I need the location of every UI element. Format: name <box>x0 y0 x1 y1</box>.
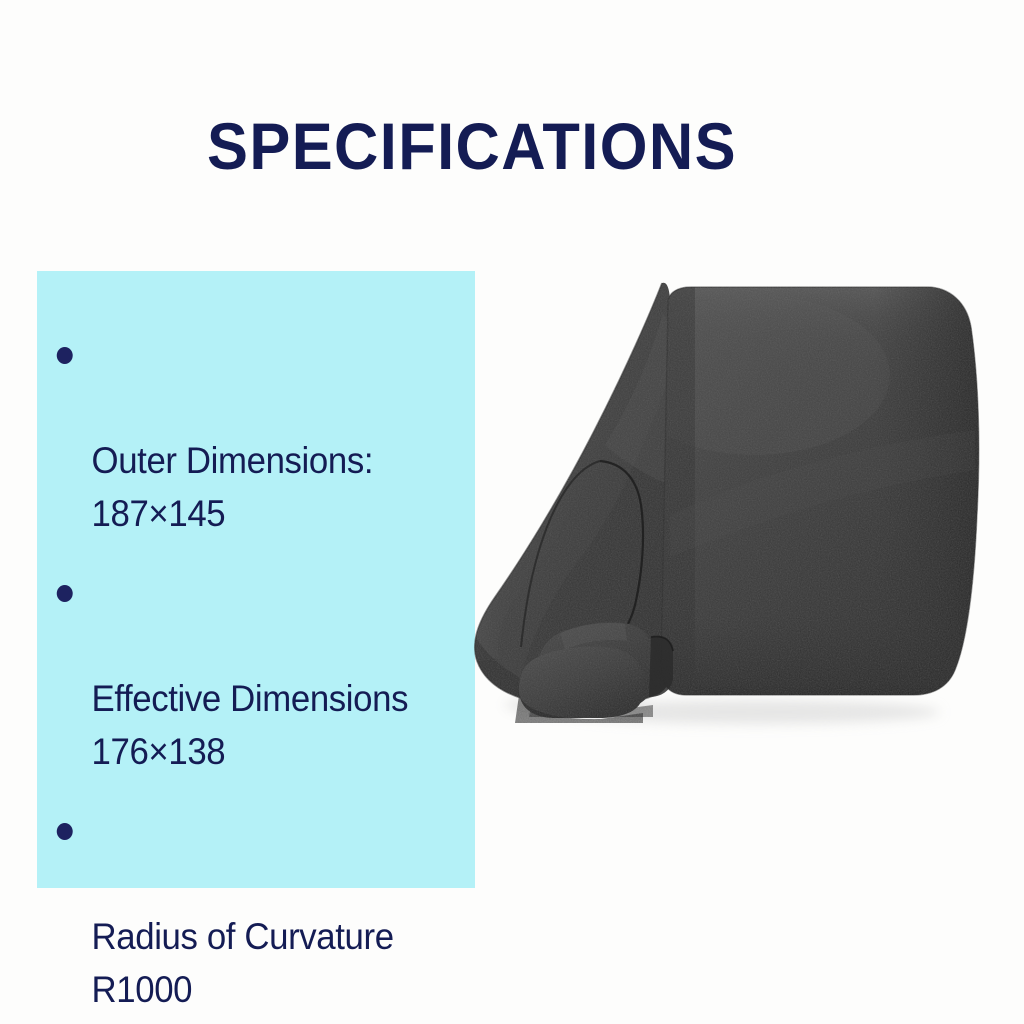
list-item: Radius of Curvature R1000 <box>37 806 479 1016</box>
product-image-side-view-mirror <box>455 265 1015 745</box>
spec-item-label: Outer Dimensions: 187×145 <box>92 440 374 534</box>
page-title: SPECIFICATIONS <box>33 108 911 184</box>
spec-item-label: Radius of Curvature R1000 <box>92 916 394 1010</box>
bullet-icon <box>57 347 73 364</box>
specifications-list: Outer Dimensions: 187×145 Effective Dime… <box>37 330 507 1024</box>
list-item: Effective Dimensions 176×138 <box>37 568 479 778</box>
list-item: Outer Dimensions: 187×145 <box>37 330 479 540</box>
product-spec-graphic: SPECIFICATIONS Outer Dimensions: 187×145… <box>0 0 1024 1024</box>
bullet-icon <box>57 823 73 840</box>
bullet-icon <box>57 585 73 602</box>
mirror-housing <box>620 275 995 715</box>
spec-item-label: Effective Dimensions 176×138 <box>92 678 409 772</box>
